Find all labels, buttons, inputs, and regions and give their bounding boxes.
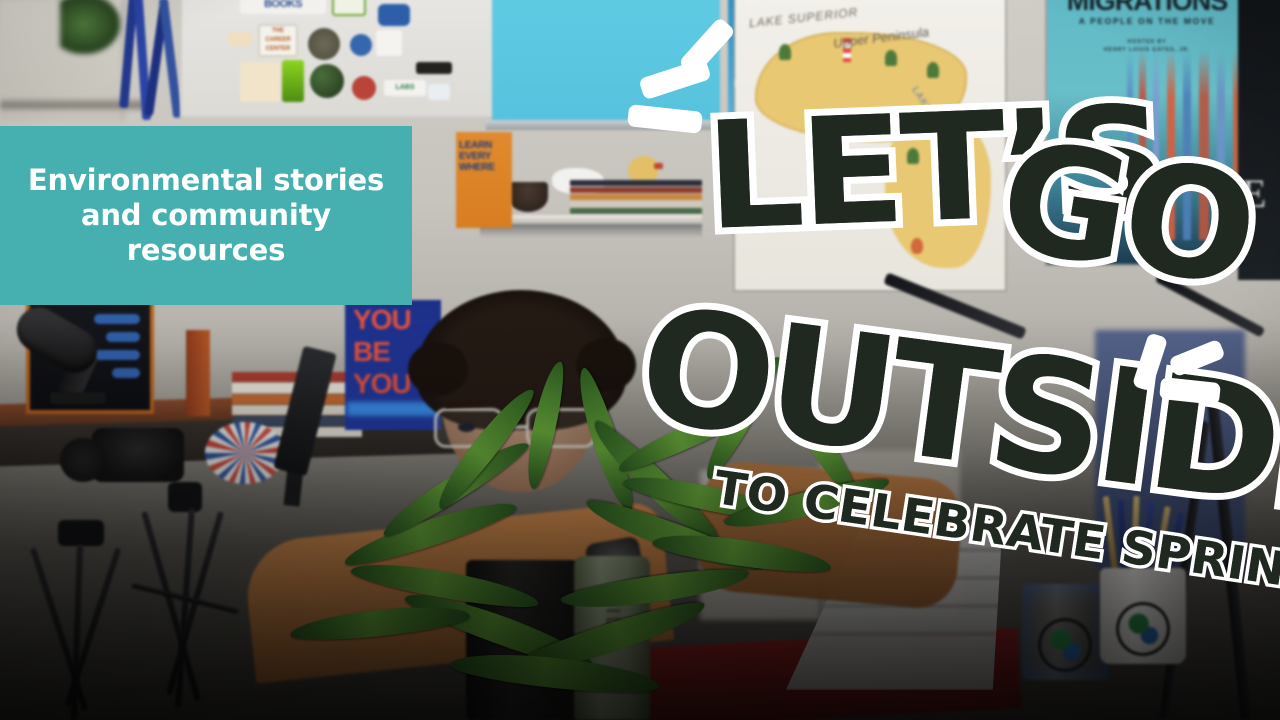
sticker-red-circle bbox=[352, 76, 376, 100]
sticker-career-center: THECAREERCENTER bbox=[258, 24, 298, 57]
caption-line-1: Environmental stories bbox=[28, 163, 384, 197]
right-dark-poster: E bbox=[1238, 0, 1280, 280]
map-tree-icon bbox=[907, 148, 919, 164]
migrations-title: MIGRATIONS bbox=[1047, 0, 1247, 17]
sticker-green-square bbox=[332, 0, 366, 16]
sticker-globe bbox=[310, 64, 344, 98]
map-balloon-icon bbox=[911, 238, 923, 254]
sticker-asparagus bbox=[282, 60, 304, 102]
sticker-dark-bar bbox=[416, 62, 452, 74]
top-plant bbox=[60, 0, 120, 54]
mug-dark bbox=[1022, 584, 1108, 680]
projector-screen bbox=[492, 0, 720, 124]
caption-box: Environmental stories and community reso… bbox=[0, 126, 412, 305]
michigan-map-poster: LAKE SUPERIOR Upper Peninsula LAKE MI bbox=[735, 0, 1005, 290]
right-poster-letter: E bbox=[1242, 170, 1266, 217]
migrations-skyline-art bbox=[1123, 50, 1247, 240]
sticker-pbs-books: BOOKS bbox=[240, 0, 326, 14]
caption-line-3: resources bbox=[127, 233, 285, 267]
vertical-book bbox=[186, 330, 210, 416]
map-tree-icon bbox=[885, 50, 897, 66]
mug-white-logo bbox=[1116, 602, 1170, 656]
wall-shelf bbox=[480, 215, 702, 224]
map-landmass-lower bbox=[885, 118, 991, 268]
projector-screen-frame bbox=[486, 120, 726, 130]
sticker-labs: LABS bbox=[384, 80, 426, 96]
pbs-logo: PBS bbox=[1143, 245, 1164, 256]
book-stack bbox=[570, 180, 702, 216]
microphone-base bbox=[50, 392, 106, 404]
yby-line2: BE bbox=[353, 336, 390, 368]
migrations-subtitle: A PEOPLE ON THE MOVE bbox=[1047, 16, 1247, 26]
sticker-map bbox=[240, 62, 280, 102]
sticker-together-we-can bbox=[378, 4, 410, 26]
video-frame: BOOKS THECAREERCENTER LABS bbox=[0, 0, 1280, 720]
migrations-poster: MIGRATIONS A PEOPLE ON THE MOVE HOSTED B… bbox=[1047, 0, 1247, 264]
lanyards bbox=[120, 0, 186, 126]
sticker-blue-circle bbox=[350, 34, 372, 56]
whiteboard: BOOKS THECAREERCENTER LABS bbox=[180, 0, 500, 118]
background-scene: BOOKS THECAREERCENTER LABS bbox=[0, 0, 1280, 720]
map-tree-icon bbox=[779, 44, 791, 60]
headphones bbox=[92, 428, 184, 482]
sticker-seal bbox=[308, 28, 340, 60]
shelf-shadow bbox=[480, 224, 702, 238]
dark-bowl bbox=[508, 182, 548, 212]
sticker-cup bbox=[428, 84, 450, 100]
map-tree-icon bbox=[927, 62, 939, 78]
caption-line-2: and community bbox=[81, 198, 331, 232]
headphones-earcup bbox=[60, 438, 106, 482]
mug-white bbox=[1100, 568, 1186, 664]
caption-text: Environmental stories and community reso… bbox=[14, 163, 398, 268]
sticker-note bbox=[376, 30, 402, 56]
paper-pinwheel bbox=[205, 422, 285, 484]
mug-dark-glow bbox=[1022, 584, 1108, 680]
fern-plant-right bbox=[612, 400, 912, 700]
learn-everywhere-poster: LEARNEVERYWHERE bbox=[456, 132, 512, 228]
sticker-michigan-small bbox=[228, 32, 252, 46]
learn-everywhere-text: LEARNEVERYWHERE bbox=[459, 140, 509, 173]
